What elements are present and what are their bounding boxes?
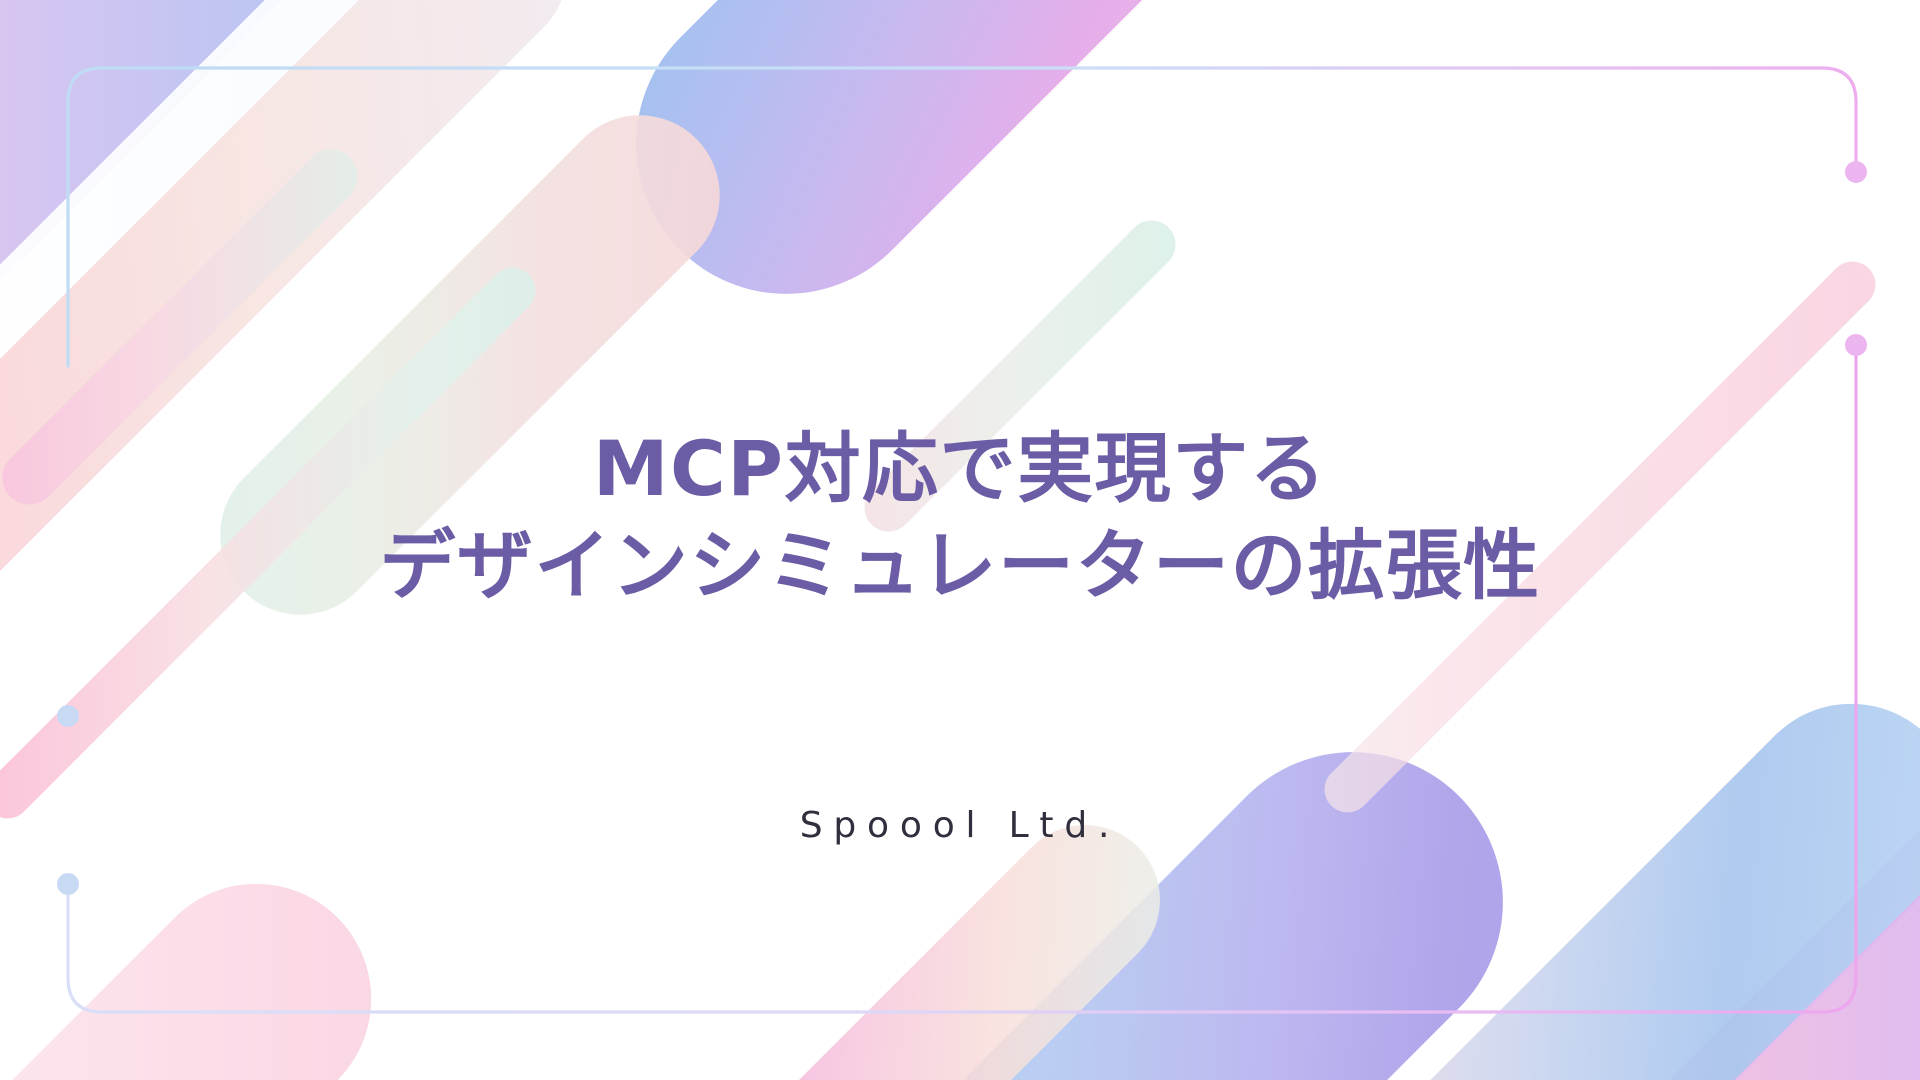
- page-title: MCP対応で実現する デザインシミュレーターの拡張性: [0, 420, 1920, 615]
- decor-capsule-right-pink-thin: [1315, 252, 1885, 822]
- decor-capsule-bottom-right-rose: [689, 794, 1191, 1080]
- decor-capsule-top-left-white: [0, 0, 823, 430]
- background-decoration: [0, 0, 1920, 1080]
- decor-capsule-bottom-right-blue: [1017, 659, 1920, 1080]
- decor-capsule-top-left-thin: [0, 138, 369, 516]
- decor-capsule-left-rose-wide: [0, 0, 597, 822]
- frame-bottom-path: [68, 346, 1856, 1012]
- decor-capsule-bottom-right-violet: [865, 690, 1565, 1080]
- subtitle-block: Spoool Ltd.: [0, 805, 1920, 846]
- frame-svg: [66, 66, 1858, 1014]
- title-block: MCP対応で実現する デザインシミュレーターの拡張性: [0, 420, 1920, 615]
- frame-dot-left-mid: [57, 705, 79, 727]
- decor-capsule-top-left-wide: [0, 0, 531, 426]
- title-line-1: MCP対応で実現する: [0, 420, 1920, 517]
- decor-capsule-right-mint-thin: [855, 211, 1186, 542]
- frame-top-path: [68, 68, 1856, 366]
- decor-capsule-top-left-band: [0, 0, 966, 376]
- frame-dot-left-lower: [57, 873, 79, 895]
- decor-capsule-bottom-left-rose: [0, 836, 419, 1080]
- slide-content: MCP対応で実現する デザインシミュレーターの拡張性 Spoool Ltd.: [0, 0, 1920, 1080]
- frame-dot-right-upper: [1845, 334, 1867, 356]
- title-slide: MCP対応で実現する デザインシミュレーターの拡張性 Spoool Ltd.: [0, 0, 1920, 1080]
- decor-capsule-top-sky-band: [767, 0, 1803, 105]
- decor-capsule-bottom-right-band: [999, 724, 1920, 1080]
- company-name: Spoool Ltd.: [0, 805, 1920, 846]
- decor-capsule-bottom-right-wide: [1431, 681, 1920, 1080]
- decor-capsule-top-pink-large: [574, 0, 1366, 356]
- title-line-2: デザインシミュレーターの拡張性: [0, 517, 1920, 614]
- frame-dot-top-right: [1845, 161, 1867, 183]
- decorative-frame: [66, 66, 1858, 1014]
- decor-capsule-top-left-mint: [187, 82, 753, 648]
- decor-capsule-left-pink-mint: [0, 258, 545, 828]
